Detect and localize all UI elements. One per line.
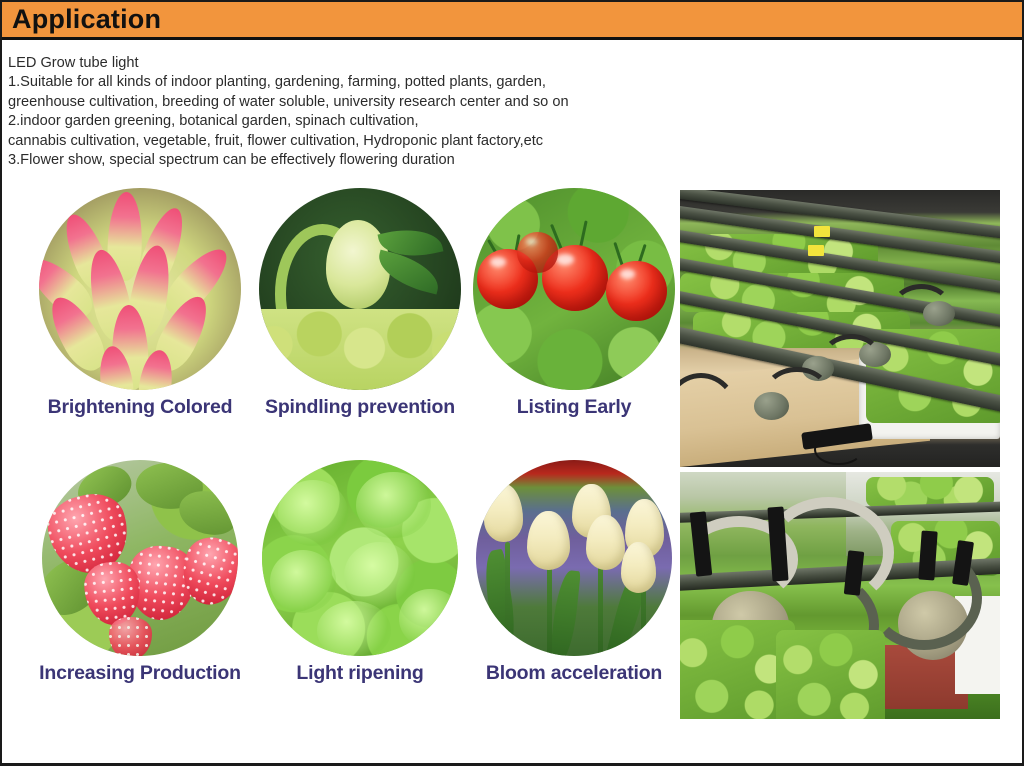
description-line: 2.indoor garden greening, botanical gard… — [8, 112, 768, 131]
benefit-caption: Increasing Production — [30, 662, 250, 685]
description-line: LED Grow tube light — [8, 54, 768, 73]
grow-rack-illustration — [680, 190, 1000, 467]
description-block: LED Grow tube light 1.Suitable for all k… — [8, 54, 768, 170]
benefit-item: Increasing Production — [30, 460, 250, 685]
benefit-item: Spindling prevention — [250, 188, 470, 419]
benefit-item: Bloom acceleration — [464, 460, 684, 685]
hydroponic-grow-rack-photo — [680, 190, 1000, 467]
benefit-item: Brightening Colored — [30, 188, 250, 419]
endcap-closeup-illustration — [680, 472, 1000, 719]
benefit-caption: Brightening Colored — [30, 396, 250, 419]
description-line: 1.Suitable for all kinds of indoor plant… — [8, 73, 768, 92]
bean-sprout-photo — [259, 188, 461, 390]
strawberries-photo — [42, 460, 238, 656]
pink-succulent-photo — [39, 188, 241, 390]
benefit-item: Light ripening — [250, 460, 470, 685]
header-bar: Application — [0, 0, 1024, 40]
benefit-caption: Light ripening — [250, 662, 470, 685]
green-lettuce-photo — [262, 460, 458, 656]
benefit-caption: Listing Early — [464, 396, 684, 419]
benefits-grid: Brightening Colored Spindling prevention — [12, 188, 672, 708]
benefit-caption: Spindling prevention — [250, 396, 470, 419]
white-tulips-photo — [476, 460, 672, 656]
description-line: 3.Flower show, special spectrum can be e… — [8, 151, 768, 170]
page-title: Application — [0, 6, 161, 33]
application-slide: Application LED Grow tube light 1.Suitab… — [0, 0, 1024, 766]
description-line: greenhouse cultivation, breeding of wate… — [8, 93, 768, 112]
red-tomatoes-photo — [473, 188, 675, 390]
benefit-item: Listing Early — [464, 188, 684, 419]
benefit-caption: Bloom acceleration — [464, 662, 684, 685]
led-tube-endcap-closeup-photo — [680, 472, 1000, 719]
description-line: cannabis cultivation, vegetable, fruit, … — [8, 132, 768, 151]
